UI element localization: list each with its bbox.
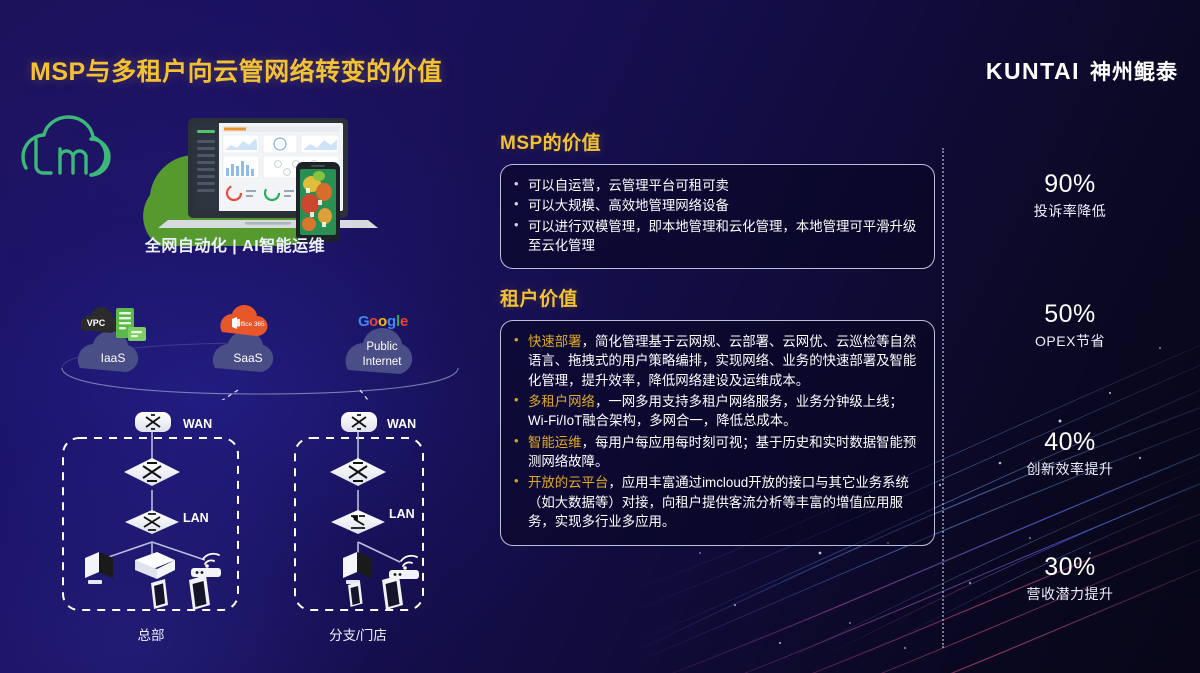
stat-label: 创新效率提升 (945, 459, 1195, 479)
stat-item: 30% 营收潜力提升 (945, 553, 1195, 604)
svg-text:e: e (400, 313, 408, 330)
stat-item: 90% 投诉率降低 (945, 170, 1195, 221)
vertical-dotted-divider (942, 148, 944, 648)
phone-device (296, 162, 340, 242)
stat-item: 40% 创新效率提升 (945, 428, 1195, 479)
section-tenant-heading: 租户价值 (500, 284, 935, 311)
svg-text:G: G (358, 313, 370, 330)
server-icon (116, 308, 146, 341)
brand-logo: KUNTAI 神州鲲泰 (986, 56, 1178, 86)
hq-pc-icon (85, 552, 113, 584)
cloud-saas-label: SaaS (233, 351, 262, 365)
bullet-keyword: 智能运维 (528, 435, 582, 450)
laptop-device (158, 118, 378, 228)
svg-text:o: o (369, 313, 378, 330)
vpc-badge-label: VPC (87, 318, 106, 328)
list-item: 快速部署，简化管理基于云网规、云部署、云网优、云巡检等自然语言、拖拽式的用户策略… (511, 332, 920, 390)
bullet-keyword: 开放的云平台 (528, 475, 608, 490)
cloud-iaas: IaaS VPC (78, 307, 146, 372)
stat-label: 投诉率降低 (945, 201, 1195, 221)
branch-site-label: 分支/门店 (329, 628, 387, 643)
stat-value: 30% (945, 553, 1195, 582)
branch-lan-label: LAN (389, 507, 415, 521)
stat-item: 50% OPEX节省 (945, 300, 1195, 351)
hq-wan-router (135, 412, 171, 432)
bullet-keyword: 多租户网络 (528, 394, 595, 409)
list-item: 可以大规模、高效地管理网络设备 (511, 196, 920, 215)
svg-text:Office 365: Office 365 (235, 321, 264, 328)
stat-value: 50% (945, 300, 1195, 329)
slide-title: MSP与多租户向云管网络转变的价值 (30, 52, 443, 88)
branch-wan-router (341, 412, 377, 432)
branch-wan-label: WAN (387, 417, 416, 431)
network-topology: WAN LAN (55, 400, 485, 665)
tenant-bullet-list: 快速部署，简化管理基于云网规、云部署、云网优、云巡检等自然语言、拖拽式的用户策略… (511, 332, 920, 531)
logo-mark-text: KUNTAI (986, 58, 1080, 85)
svg-text:g: g (387, 313, 396, 330)
cloud-public-internet: Public Internet Go og le (346, 313, 413, 374)
section-msp-panel: 可以自运营，云管理平台可租可卖 可以大规模、高效地管理网络设备 可以进行双模管理… (500, 164, 935, 269)
cloud-public-label-1: Public (366, 341, 398, 353)
list-item: 智能运维，每用户每应用每时刻可视；基于历史和实时数据智能预测网络故障。 (511, 433, 920, 472)
site-hq: WAN LAN (63, 412, 238, 643)
hq-lan-label: LAN (183, 511, 209, 525)
section-tenant: 租户价值 快速部署，简化管理基于云网规、云部署、云网优、云巡检等自然语言、拖拽式… (500, 284, 935, 546)
cloud-public-label-2: Internet (363, 356, 403, 368)
section-msp: MSP的价值 可以自运营，云管理平台可租可卖 可以大规模、高效地管理网络设备 可… (500, 128, 935, 269)
site-branch: WAN LAN (295, 412, 423, 643)
hq-site-label: 总部 (138, 628, 165, 643)
bullet-keyword: 快速部署 (528, 334, 582, 349)
logo-chinese-text: 神州鲲泰 (1090, 56, 1178, 86)
branch-core-switch (330, 458, 386, 486)
value-sections: MSP的价值 可以自运营，云管理平台可租可卖 可以大规模、高效地管理网络设备 可… (500, 128, 935, 546)
bullet-text: 可以大规模、高效地管理网络设备 (528, 198, 729, 213)
svg-text:o: o (378, 313, 387, 330)
list-item: 可以自运营，云管理平台可租可卖 (511, 176, 920, 195)
hq-wan-label: WAN (183, 417, 212, 431)
msp-bullet-list: 可以自运营，云管理平台可租可卖 可以大规模、高效地管理网络设备 可以进行双模管理… (511, 176, 920, 255)
cloud-services-row: IaaS VPC SaaS (60, 290, 460, 400)
stats-column: 90% 投诉率降低 50% OPEX节省 40% 创新效率提升 30% 营收潜力… (945, 150, 1195, 660)
google-logo: Go og le (358, 313, 408, 330)
hq-core-switch (124, 458, 180, 486)
branch-access-switch (331, 510, 385, 534)
list-item: 多租户网络，一网多用支持多租户网络服务，业务分钟级上线；Wi-Fi/IoT融合架… (511, 392, 920, 431)
bullet-text: ，简化管理基于云网规、云部署、云网优、云巡检等自然语言、拖拽式的用户策略编排，实… (528, 334, 916, 388)
stat-value: 40% (945, 428, 1195, 457)
list-item: 可以进行双模管理，即本地管理和云化管理，本地管理可平滑升级至云化管理 (511, 217, 920, 256)
stat-value: 90% (945, 170, 1195, 199)
bullet-text: ，每用户每应用每时刻可视；基于历史和实时数据智能预测网络故障。 (528, 435, 916, 469)
branch-pc-icon (343, 552, 371, 584)
hq-printer-icon (135, 552, 175, 579)
illustration-caption: 全网自动化 | AI智能运维 (0, 232, 470, 256)
section-msp-heading: MSP的价值 (500, 128, 935, 155)
bullet-text: 可以自运营，云管理平台可租可卖 (528, 178, 729, 193)
section-tenant-panel: 快速部署，简化管理基于云网规、云部署、云网优、云巡检等自然语言、拖拽式的用户策略… (500, 320, 935, 546)
hq-access-switch (125, 510, 179, 534)
cloud-saas: SaaS Office 365 (213, 305, 273, 372)
bullet-text: 可以进行双模管理，即本地管理和云化管理，本地管理可平滑升级至云化管理 (528, 219, 916, 253)
stat-label: 营收潜力提升 (945, 584, 1195, 604)
im-cloud-logo (23, 117, 109, 175)
cloud-iaas-label: IaaS (101, 351, 126, 365)
list-item: 开放的云平台，应用丰富通过imcloud开放的接口与其它业务系统（如大数据等）对… (511, 473, 920, 531)
stat-label: OPEX节省 (945, 331, 1195, 351)
slide-canvas: MSP与多租户向云管网络转变的价值 KUNTAI 神州鲲泰 (0, 0, 1200, 673)
hq-tablet-icons (151, 575, 210, 610)
